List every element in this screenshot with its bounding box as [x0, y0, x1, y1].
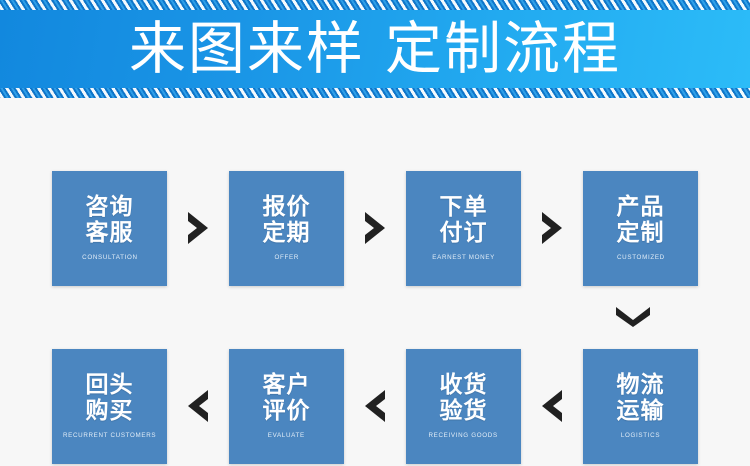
flow-step-label-cn: 物流运输 [617, 373, 665, 425]
flow-step-label-en: RECURRENT CUSTOMERS [63, 432, 156, 439]
flow-arrow-right-2 [344, 171, 406, 286]
flow-step-label-cn-line2: 评价 [263, 398, 311, 424]
flow-step-label-cn: 产品定制 [617, 195, 665, 247]
flow-step-recurrent-customers[interactable]: 回头购买 RECURRENT CUSTOMERS [52, 349, 167, 464]
flow-arrow-left-1 [167, 349, 229, 464]
flow-step-earnest-money[interactable]: 下单付订 EARNEST MONEY [406, 171, 521, 286]
flow-step-label-en: EARNEST MONEY [432, 254, 495, 261]
flow-step-label-en: OFFER [274, 254, 299, 261]
flow-step-label-cn: 报价定期 [263, 195, 311, 247]
chevron-left-icon [186, 389, 210, 423]
flow-step-label-cn-line2: 购买 [86, 398, 134, 424]
flow-step-label-cn-line2: 付订 [440, 220, 488, 246]
chevron-right-icon [186, 211, 210, 245]
flow-step-consultation[interactable]: 咨询客服 CONSULTATION [52, 171, 167, 286]
flow-step-label-cn: 下单付订 [440, 195, 488, 247]
flow-arrow-left-3 [521, 349, 583, 464]
banner-stripe-bottom [0, 88, 750, 98]
flow-arrow-right-3 [521, 171, 583, 286]
flow-step-label-cn: 咨询客服 [86, 195, 134, 247]
banner-stripe-top [0, 0, 750, 10]
process-flow-diagram: 咨询客服 CONSULTATION 报价定期 OFFER 下单付订 EARNES [0, 98, 750, 466]
flow-step-evaluate[interactable]: 客户评价 EVALUATE [229, 349, 344, 464]
flow-step-label-cn-line1: 物流 [617, 372, 665, 398]
flow-step-label-en: RECEIVING GOODS [429, 432, 498, 439]
flow-step-label-cn-line1: 收货 [440, 372, 488, 398]
chevron-right-icon [363, 211, 387, 245]
flow-row-top: 咨询客服 CONSULTATION 报价定期 OFFER 下单付订 EARNES [0, 168, 750, 288]
flow-step-label-cn-line1: 下单 [440, 194, 488, 220]
flow-step-label-cn-line2: 运输 [617, 398, 665, 424]
flow-step-label-en: LOGISTICS [621, 432, 660, 439]
page-title: 来图来样 定制流程 [0, 10, 750, 88]
flow-step-label-cn-line2: 验货 [440, 398, 488, 424]
flow-step-label-cn-line2: 定期 [263, 220, 311, 246]
flow-step-receiving-goods[interactable]: 收货验货 RECEIVING GOODS [406, 349, 521, 464]
flow-arrow-left-2 [344, 349, 406, 464]
flow-step-logistics[interactable]: 物流运输 LOGISTICS [583, 349, 698, 464]
flow-step-label-en: CONSULTATION [82, 254, 138, 261]
chevron-down-icon [615, 306, 651, 328]
flow-step-label-cn-line1: 客户 [263, 372, 311, 398]
flow-step-label-cn-line1: 咨询 [86, 194, 134, 220]
flow-step-offer[interactable]: 报价定期 OFFER [229, 171, 344, 286]
flow-step-label-cn: 收货验货 [440, 373, 488, 425]
chevron-left-icon [540, 389, 564, 423]
flow-step-label-cn-line1: 产品 [617, 194, 665, 220]
flow-step-label-en: EVALUATE [268, 432, 305, 439]
chevron-right-icon [540, 211, 564, 245]
flow-row-bottom: 回头购买 RECURRENT CUSTOMERS 客户评价 EVALUATE 收… [0, 346, 750, 466]
flow-step-label-cn-line2: 客服 [86, 220, 134, 246]
flow-step-label-en: CUSTOMIZED [617, 254, 665, 261]
page-banner: 来图来样 定制流程 [0, 0, 750, 98]
flow-step-customized[interactable]: 产品定制 CUSTOMIZED [583, 171, 698, 286]
chevron-left-icon [363, 389, 387, 423]
flow-step-label-cn: 回头购买 [86, 373, 134, 425]
flow-step-label-cn-line1: 报价 [263, 194, 311, 220]
flow-step-label-cn: 客户评价 [263, 373, 311, 425]
flow-step-label-cn-line1: 回头 [86, 372, 134, 398]
flow-arrow-down-connector [609, 294, 657, 340]
flow-arrow-right-1 [167, 171, 229, 286]
flow-step-label-cn-line2: 定制 [617, 220, 665, 246]
